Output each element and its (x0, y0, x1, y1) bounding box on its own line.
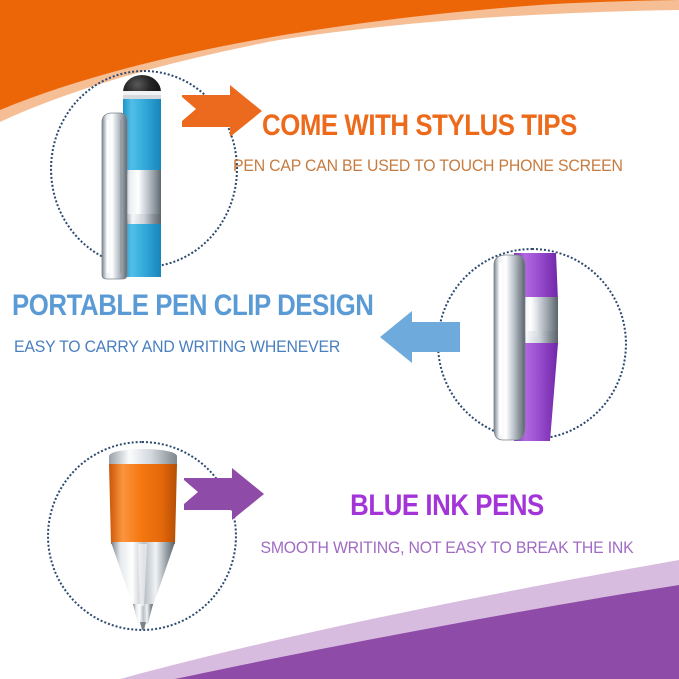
arrow-shape (182, 85, 262, 137)
pen-top-band (109, 456, 177, 465)
headline-blue-ink: BLUE INK PENS (275, 490, 619, 522)
feature-text-clip: PORTABLE PEN CLIP DESIGN EASY TO CARRY A… (12, 290, 432, 357)
pen-cone-lower (133, 604, 153, 624)
arrow-shape (184, 468, 264, 520)
purple-clip-pen (470, 251, 600, 443)
pen-barrel-orange (109, 464, 177, 544)
feature-pen-clip: PORTABLE PEN CLIP DESIGN EASY TO CARRY A… (0, 235, 679, 435)
feature-text-stylus: COME WITH STYLUS TIPS PEN CAP CAN BE USE… (262, 110, 652, 176)
orange-ink-pen (95, 446, 191, 632)
headline-stylus-tips: COME WITH STYLUS TIPS (262, 110, 597, 142)
pen-nib (140, 622, 146, 630)
subtitle-blue-ink: SMOOTH WRITING, NOT EASY TO BREAK THE IN… (247, 538, 647, 558)
pen-cap-blue (123, 99, 161, 174)
subtitle-stylus-tips: PEN CAP CAN BE USED TO TOUCH PHONE SCREE… (233, 156, 623, 176)
pen-clip (494, 255, 525, 440)
arrow-right-icon-1 (180, 83, 264, 139)
headline-pen-clip: PORTABLE PEN CLIP DESIGN (12, 290, 373, 322)
subtitle-pen-clip: EASY TO CARRY AND WRITING WHENEVER (14, 337, 403, 357)
arrow-right-icon-3 (182, 466, 266, 522)
product-infographic: COME WITH STYLUS TIPS PEN CAP CAN BE USE… (0, 0, 679, 679)
feature-blue-ink: BLUE INK PENS SMOOTH WRITING, NOT EASY T… (0, 428, 679, 638)
